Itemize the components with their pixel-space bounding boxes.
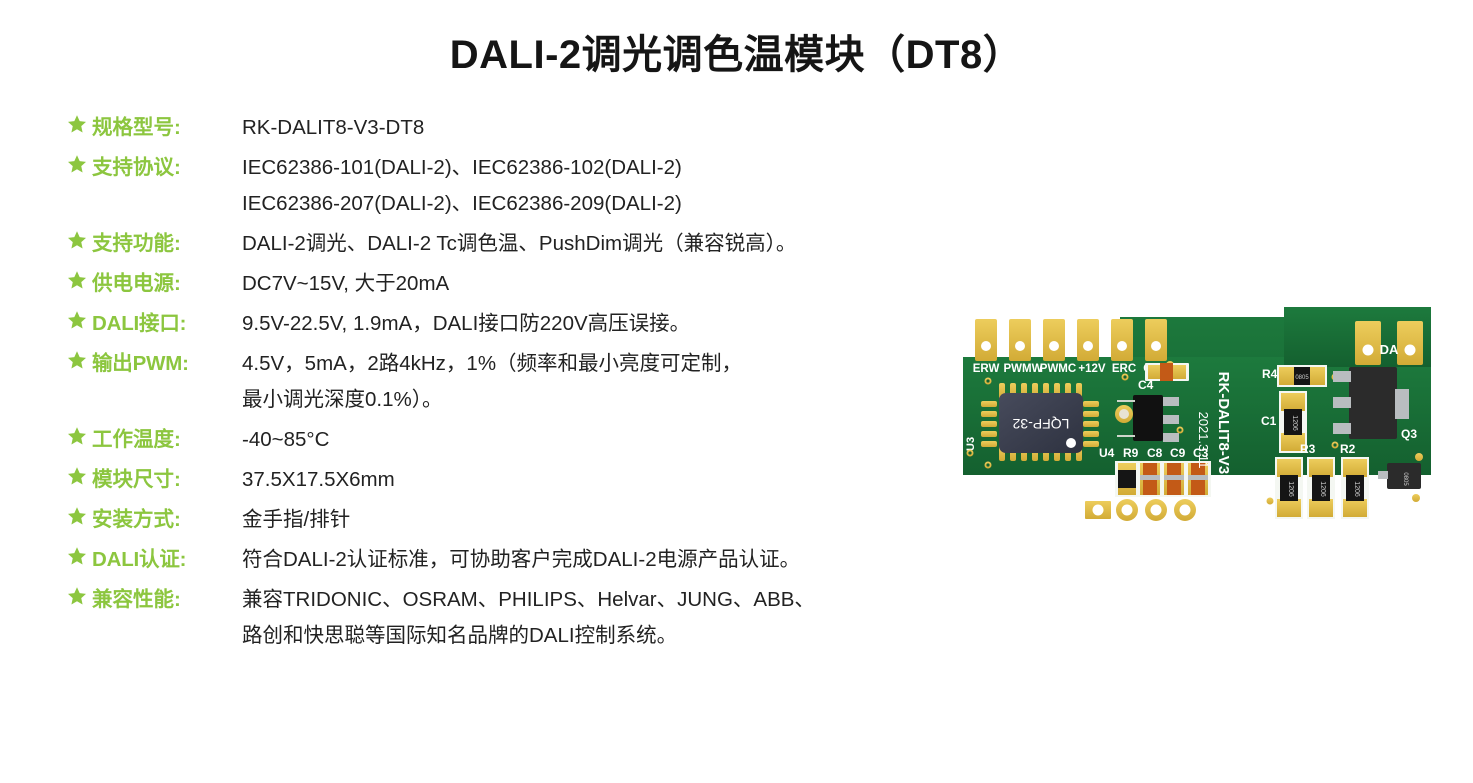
spec-row-dali-interface: DALI接口: 9.5V-22.5V, 1.9mA，DALI接口防220V高压误…: [62, 309, 942, 339]
spec-value: -40~85°C: [240, 425, 942, 455]
spec-value-continuation: 路创和快思聪等国际知名品牌的DALI控制系统。: [240, 621, 942, 651]
pin-label-erw: ERW: [973, 363, 1000, 375]
pcb-product-image: ERW PWMW PWMC +12V ERC GND DA: [957, 305, 1437, 545]
designator-r3: R3: [1300, 442, 1316, 456]
specification-list: 规格型号: RK-DALIT8-V3-DT8 支持协议: IEC62386-10…: [62, 113, 942, 656]
spec-row-protocol-continued: IEC62386-207(DALI-2)、IEC62386-209(DALI-2…: [62, 189, 942, 219]
star-icon: [62, 229, 92, 259]
bottom-test-pads: [1085, 499, 1215, 521]
spec-label: 模块尺寸:: [92, 465, 240, 495]
pin-label-12v: +12V: [1078, 363, 1106, 375]
spec-row-dali-certification: DALI认证: 符合DALI-2认证标准，可协助客户完成DALI-2电源产品认证…: [62, 545, 942, 575]
designator-r9: R9: [1123, 446, 1139, 460]
spec-value-continuation: IEC62386-207(DALI-2)、IEC62386-209(DALI-2…: [240, 189, 942, 219]
spec-value: 9.5V-22.5V, 1.9mA，DALI接口防220V高压误接。: [240, 309, 942, 339]
spec-value: 金手指/排针: [240, 505, 942, 535]
resistor-code: 1206: [1291, 415, 1298, 431]
spec-row-module-size: 模块尺寸: 37.5X17.5X6mm: [62, 465, 942, 495]
silkscreen-date: 2021.3.11: [1196, 412, 1211, 469]
spec-row-functions: 支持功能: DALI-2调光、DALI-2 Tc调色温、PushDim调光（兼容…: [62, 229, 942, 259]
spec-label: 支持功能:: [92, 229, 240, 259]
resistor-code: 1206: [1319, 481, 1326, 497]
star-icon: [62, 505, 92, 535]
spec-label: 安装方式:: [92, 505, 240, 535]
spec-label: 支持协议:: [92, 153, 240, 183]
star-icon: [62, 349, 92, 379]
designator-c4: C4: [1138, 378, 1154, 392]
spec-row-compatibility-continued: 路创和快思聪等国际知名品牌的DALI控制系统。: [62, 621, 942, 651]
page-title: DALI-2调光调色温模块（DT8）: [0, 22, 1473, 80]
spec-row-pwm-output-continued: 最小调光深度0.1%）。: [62, 385, 942, 415]
spec-value: 兼容TRIDONIC、OSRAM、PHILIPS、Helvar、JUNG、ABB…: [240, 585, 942, 615]
designator-r6: R6: [1260, 486, 1276, 500]
spec-row-pwm-output: 输出PWM: 4.5V，5mA，2路4kHz，1%（频率和最小亮度可定制，: [62, 349, 942, 379]
transistor-code: 0805: [1402, 472, 1408, 486]
spec-row-power-supply: 供电电源: DC7V~15V, 大于20mA: [62, 269, 942, 299]
star-icon: [62, 113, 92, 143]
designator-c9: C9: [1170, 446, 1186, 460]
star-icon: [62, 545, 92, 575]
resistor-code: 0805: [1295, 375, 1309, 381]
spec-label: 工作温度:: [92, 425, 240, 455]
spec-value: DALI-2调光、DALI-2 Tc调色温、PushDim调光（兼容锐高）。: [240, 229, 942, 259]
designator-u4: U4: [1099, 446, 1115, 460]
designator-r2: R2: [1340, 442, 1356, 456]
designator-r4: R4: [1262, 367, 1278, 381]
resistor-code: 1206: [1287, 481, 1294, 497]
spec-value: 4.5V，5mA，2路4kHz，1%（频率和最小亮度可定制，: [240, 349, 942, 379]
spec-label: 规格型号:: [92, 113, 240, 143]
spec-label: 供电电源:: [92, 269, 240, 299]
spec-value: 符合DALI-2认证标准，可协助客户完成DALI-2电源产品认证。: [240, 545, 942, 575]
pad-label-da: DA: [1380, 342, 1399, 357]
spec-value-continuation: 最小调光深度0.1%）。: [240, 385, 942, 415]
spec-value: DC7V~15V, 大于20mA: [240, 269, 942, 299]
chip-label-lqfp32: LQFP-32: [1012, 416, 1069, 432]
pcb-svg: ERW PWMW PWMC +12V ERC GND DA: [957, 305, 1437, 545]
star-icon: [62, 269, 92, 299]
pin-label-pwmc: PWMC: [1040, 363, 1076, 375]
spec-label: DALI认证:: [92, 545, 240, 575]
pin-label-erc: ERC: [1112, 363, 1136, 375]
designator-q3: Q3: [1401, 427, 1417, 441]
star-icon: [62, 309, 92, 339]
spec-label: 输出PWM:: [92, 349, 240, 379]
spec-value: 37.5X17.5X6mm: [240, 465, 942, 495]
designator-q2: Q2: [1381, 494, 1397, 508]
star-icon: [62, 425, 92, 455]
pin-label-pwmw: PWMW: [1004, 363, 1043, 375]
spec-row-mounting: 安装方式: 金手指/排针: [62, 505, 942, 535]
spec-value: IEC62386-101(DALI-2)、IEC62386-102(DALI-2…: [240, 153, 942, 183]
star-icon: [62, 465, 92, 495]
spec-value: RK-DALIT8-V3-DT8: [240, 113, 942, 143]
designator-c1: C1: [1261, 414, 1277, 428]
spec-label: 兼容性能:: [92, 585, 240, 615]
star-icon: [62, 585, 92, 615]
designator-c8: C8: [1147, 446, 1163, 460]
product-spec-page: DALI-2调光调色温模块（DT8） 规格型号: RK-DALIT8-V3-DT…: [0, 0, 1473, 783]
spec-label: DALI接口:: [92, 309, 240, 339]
resistor-code: 1206: [1353, 481, 1360, 497]
silkscreen-board-name: RK-DALIT8-V3 RL: [1215, 372, 1232, 499]
spec-row-protocol: 支持协议: IEC62386-101(DALI-2)、IEC62386-102(…: [62, 153, 942, 183]
spec-row-operating-temperature: 工作温度: -40~85°C: [62, 425, 942, 455]
designator-u3: U3: [965, 437, 977, 451]
spec-row-compatibility: 兼容性能: 兼容TRIDONIC、OSRAM、PHILIPS、Helvar、JU…: [62, 585, 942, 615]
spec-row-model: 规格型号: RK-DALIT8-V3-DT8: [62, 113, 942, 143]
star-icon: [62, 153, 92, 183]
